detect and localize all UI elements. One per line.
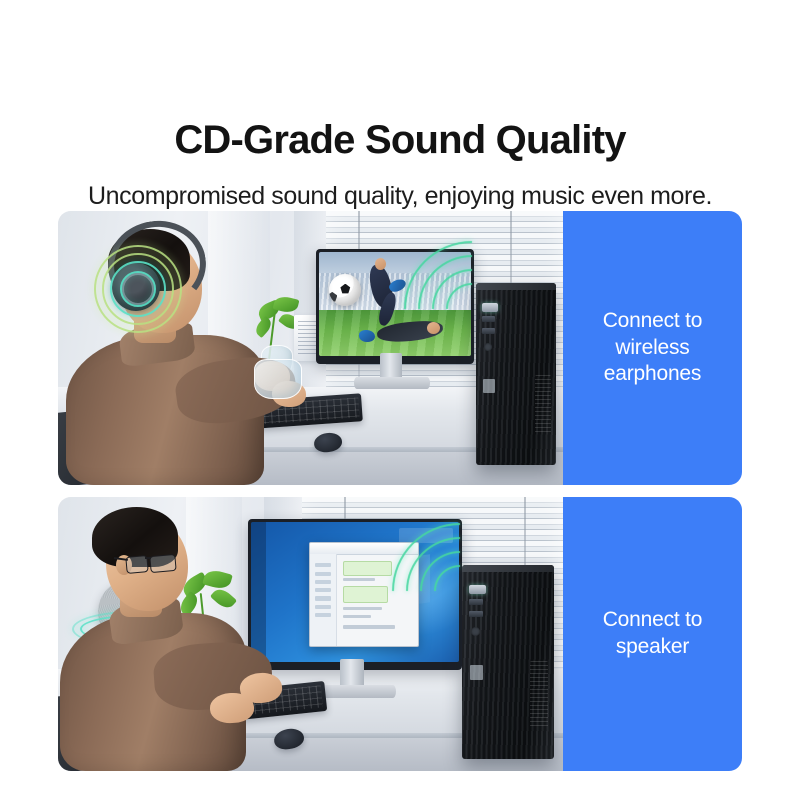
caption-panel-wireless-earphones: Connect to wireless earphones xyxy=(563,211,742,485)
tower-logo xyxy=(483,379,495,393)
glass-cup xyxy=(254,359,302,399)
content-line xyxy=(343,615,371,618)
tower-vent xyxy=(535,375,551,435)
content-line xyxy=(343,625,395,628)
caption-panel-speaker: Connect to speaker xyxy=(563,497,742,771)
message-bubble xyxy=(343,561,393,575)
page-subtitle: Uncompromised sound quality, enjoying mu… xyxy=(0,183,800,211)
content-line xyxy=(343,607,382,610)
monitor-neck xyxy=(380,353,402,379)
player-head xyxy=(375,258,386,270)
desktop-icon-column[interactable] xyxy=(251,522,266,662)
eyeglasses-icon xyxy=(149,554,176,573)
feature-row-speaker: Connect to speaker xyxy=(58,497,742,771)
content-line xyxy=(343,578,375,581)
message-bubble xyxy=(343,586,388,603)
sidebar-item[interactable] xyxy=(315,596,331,600)
sidebar-item[interactable] xyxy=(315,563,331,567)
eyeglasses-bridge xyxy=(145,557,151,559)
photo-man-with-headphones xyxy=(58,211,563,485)
tower-vent xyxy=(530,661,548,727)
caption-text: Connect to wireless earphones xyxy=(595,308,711,389)
soccer-ball-icon xyxy=(329,274,361,306)
monitor-stand-foot xyxy=(354,377,430,389)
caption-text: Connect to speaker xyxy=(595,607,711,661)
sidebar-item[interactable] xyxy=(315,572,331,576)
headphone-glow-ring xyxy=(94,245,182,333)
tower-logo xyxy=(470,665,483,680)
photo-man-typing-with-speaker xyxy=(58,497,563,771)
sidebar-item[interactable] xyxy=(315,580,331,584)
goalkeeper-glove xyxy=(359,330,375,342)
page-title: CD-Grade Sound Quality xyxy=(0,119,800,161)
sidebar-item[interactable] xyxy=(315,588,331,592)
sidebar-item[interactable] xyxy=(315,613,331,617)
product-feature-page: CD-Grade Sound Quality Uncompromised sou… xyxy=(0,0,800,800)
monitor-neck xyxy=(340,659,364,687)
sidebar-item[interactable] xyxy=(315,605,331,609)
feature-row-wireless-earphones: Connect to wireless earphones xyxy=(58,211,742,485)
